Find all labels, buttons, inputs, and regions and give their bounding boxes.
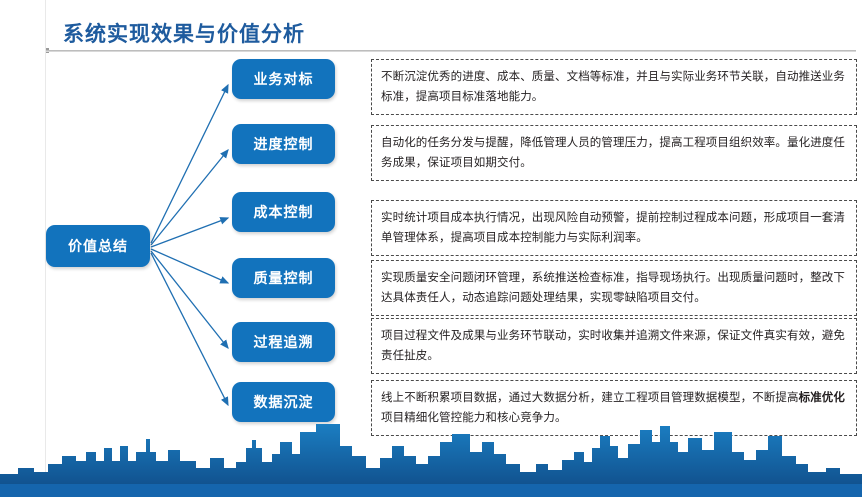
branch-description-quality-control: 实现质量安全问题闭环管理，系统推送检查标准，指导现场执行。出现质量问题时，整改下… — [371, 260, 857, 316]
branch-label-schedule-control[interactable]: 进度控制 — [232, 124, 335, 164]
branch-description-process-traceability: 项目过程文件及成果与业务环节联动，实时收集并追溯文件来源，保证文件真实有效，避免… — [371, 318, 857, 374]
page-title: 系统实现效果与价值分析 — [63, 18, 305, 48]
branch-description-schedule-control: 自动化的任务分发与提醒，降低管理人员的管理压力，提高工程项目组织效率。量化进度任… — [371, 125, 857, 181]
branch-label-process-traceability[interactable]: 过程追溯 — [232, 322, 335, 362]
center-node-value-summary[interactable]: 价值总结 — [46, 225, 150, 267]
branch-description-cost-control: 实时统计项目成本执行情况，出现风险自动预警，提前控制过程成本问题，形成项目一套清… — [371, 200, 857, 256]
branch-description-business-benchmark: 不断沉淀优秀的进度、成本、质量、文档等标准，并且与实际业务环节关联，自动推送业务… — [371, 59, 857, 115]
branch-label-business-benchmark[interactable]: 业务对标 — [232, 59, 335, 99]
desc-part-leading: 线上不断积累项目数据，通过大数据分析，建立工程项目管理数据模型，不断提高 — [381, 392, 799, 404]
desc-part-emphasis: 标准优化 — [799, 392, 845, 404]
city-skyline-icon — [0, 412, 862, 497]
branch-label-quality-control[interactable]: 质量控制 — [232, 258, 335, 298]
slide-canvas: 系统实现效果与价值分析 价值总结 业务对标 不断沉淀优秀的进度、成本、质量、文档… — [0, 0, 862, 497]
title-divider — [46, 50, 856, 52]
branch-label-cost-control[interactable]: 成本控制 — [232, 192, 335, 232]
